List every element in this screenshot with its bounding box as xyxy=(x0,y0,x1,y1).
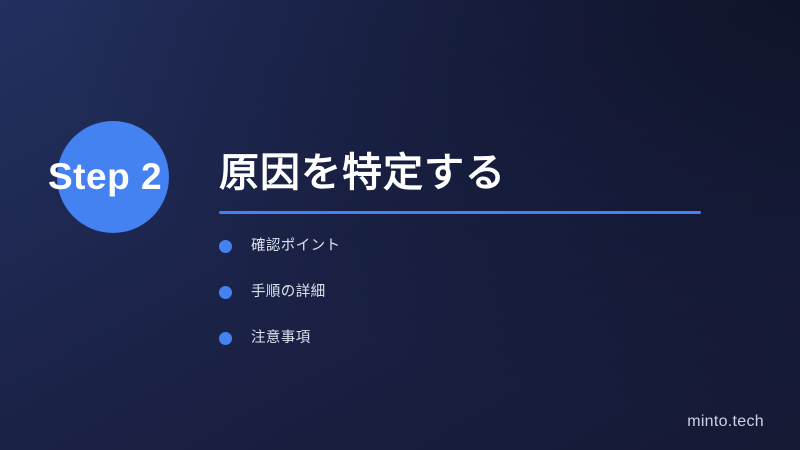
list-item-label: 手順の詳細 xyxy=(251,284,326,301)
bullet-dot-icon xyxy=(219,286,232,299)
list-item: 確認ポイント xyxy=(219,238,340,255)
footer-brand: minto.tech xyxy=(687,412,764,432)
bullet-dot-icon xyxy=(219,240,232,253)
bullet-dot-icon xyxy=(219,332,232,345)
page-title: 原因を特定する xyxy=(219,147,506,199)
list-item-label: 確認ポイント xyxy=(251,238,340,255)
slide-content: Step 2 原因を特定する 確認ポイント 手順の詳細 注意事項 minto.t… xyxy=(0,0,800,450)
list-item-label: 注意事項 xyxy=(251,330,311,347)
list-item: 注意事項 xyxy=(219,330,340,347)
slide-canvas: Step 2 原因を特定する 確認ポイント 手順の詳細 注意事項 minto.t… xyxy=(0,0,800,450)
list-item: 手順の詳細 xyxy=(219,284,340,301)
bullet-list: 確認ポイント 手順の詳細 注意事項 xyxy=(219,238,340,347)
title-divider xyxy=(219,211,701,214)
step-badge-label: Step 2 xyxy=(48,154,162,200)
